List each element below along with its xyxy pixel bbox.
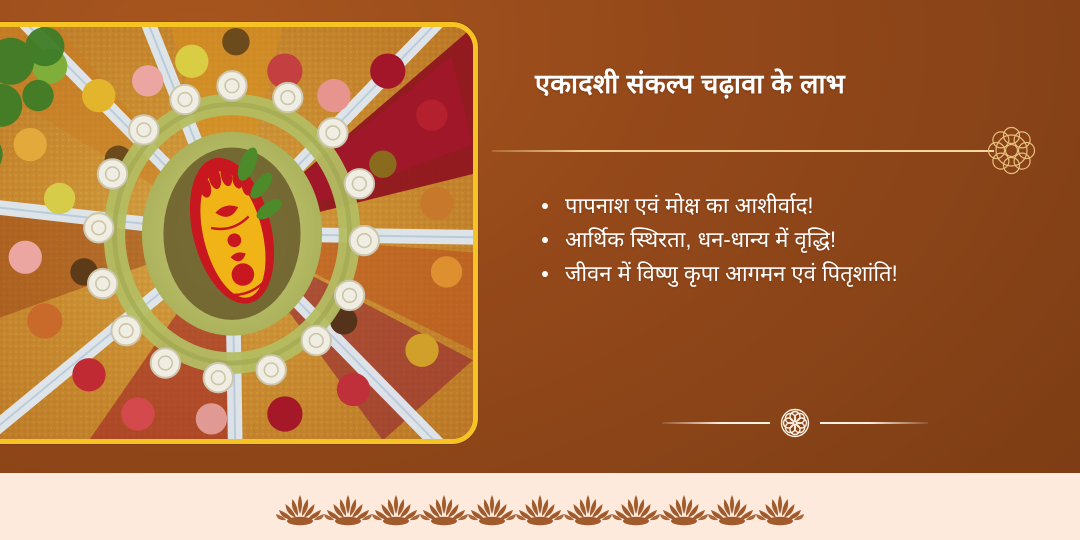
bottom-band [0, 473, 1080, 540]
content-panel: एकादशी संकल्प चढ़ावा के लाभ [500, 0, 1080, 473]
title-divider [492, 150, 1052, 190]
divider-line [492, 150, 994, 152]
lotus-motif [372, 492, 420, 526]
divider-line-right [820, 422, 928, 424]
bottom-divider [650, 404, 940, 442]
flower-rosette-icon [777, 405, 813, 441]
benefit-item-2: आर्थिक स्थिरता, धन-धान्य में वृद्धि! [535, 224, 1055, 256]
offering-image [0, 27, 473, 439]
rosette-mandala-icon [987, 126, 1036, 175]
poster-canvas: एकादशी संकल्प चढ़ावा के लाभ [0, 0, 1080, 540]
lotus-motif [564, 492, 612, 526]
offering-image-card [0, 22, 478, 444]
lotus-motif [276, 492, 324, 526]
lotus-motif [708, 492, 756, 526]
benefit-item-3: जीवन में विष्णु कृपा आगमन एवं पितृशांति! [535, 258, 1055, 290]
benefit-item-1: पापनाश एवं मोक्ष का आशीर्वाद! [535, 190, 1055, 222]
lotus-motif [516, 492, 564, 526]
divider-line-left [662, 422, 770, 424]
lotus-motif [324, 492, 372, 526]
benefits-list: पापनाश एवं मोक्ष का आशीर्वाद! आर्थिक स्थ… [535, 190, 1055, 292]
lotus-motif [420, 492, 468, 526]
lotus-motif [468, 492, 516, 526]
page-title: एकादशी संकल्प चढ़ावा के लाभ [535, 68, 1055, 102]
lotus-motif [612, 492, 660, 526]
lotus-motif [660, 492, 708, 526]
lotus-motif [756, 492, 804, 526]
chhappan-bhog-thali-illustration [0, 27, 473, 439]
lotus-border-icon [275, 486, 805, 526]
